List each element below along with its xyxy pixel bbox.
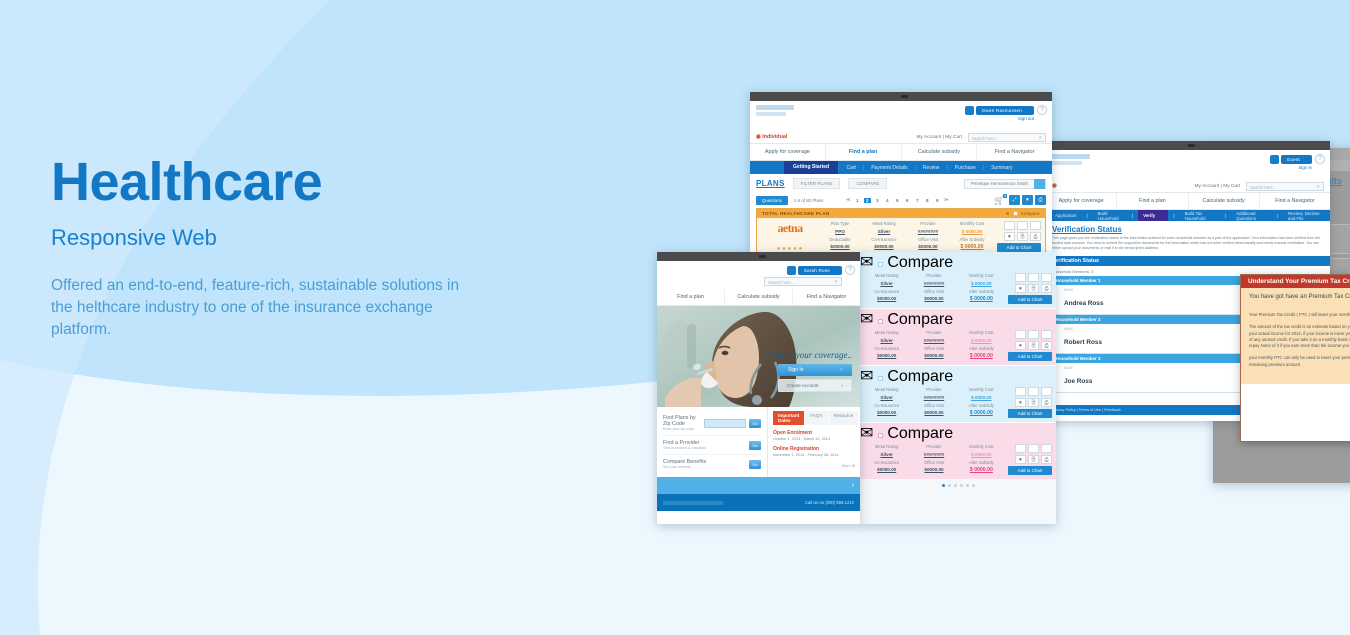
plan-card-actions: ♥ 🗎 ⎙ Add to Chart [1004,444,1052,475]
sign-in-link[interactable]: Sign In [1298,165,1312,170]
browser-chrome-bar [657,252,860,261]
modal-footer [1241,384,1350,400]
plans-toolbar: Questions 1-5 of 80 Plans ≪ 1 2 3 4 5 6 … [750,193,1052,208]
select-box[interactable] [1041,444,1052,453]
cart-count: 0 [1003,194,1007,198]
step-cart[interactable]: Cart [839,165,862,171]
plan-list-card[interactable]: ✉ Compare Metal Rating Provider Monthly … [860,366,1056,423]
chevron-right-icon: › [841,383,843,388]
carousel-dot[interactable] [948,484,951,487]
window-plans[interactable]: Gwen Rasmussen ? Sign out ◉ Individual M… [750,92,1052,252]
attr-label: Office Visit [911,346,956,353]
plan-list-card[interactable]: ✉ Compare Metal Rating Provider Monthly … [860,309,1056,366]
verify-footer-links[interactable]: Privacy Policy | Terms of Use | Feedback [1052,408,1121,412]
select-box[interactable] [1041,330,1052,339]
plan-icon-buttons[interactable]: ♥ 🗎 ⎙ [1015,284,1052,293]
attr-value-monthly-cost: $ 0000.00 [959,452,1004,459]
add-to-chart-button[interactable]: Add to Chart [1008,409,1052,418]
attr-label: Provider [911,273,956,280]
attr-label: Provider [907,221,949,228]
site-logo-tagline [1052,161,1082,165]
pin-icon: ◉ [1052,183,1057,189]
mail-icon[interactable]: ✉ [860,425,873,442]
page-number[interactable]: 7 [914,198,921,203]
plan-card-actions: ♥ 🗎 ⎙ Add to Chart [1004,387,1052,418]
chevron-down-icon[interactable] [1034,179,1045,189]
verify-account-row: ◉ My Account | My Cart Search here... [1046,180,1330,193]
attr-label: Office Visit [907,237,949,244]
page-number[interactable]: 8 [924,198,931,203]
modal-body: You have got have an Premium Tax Credit … [1241,288,1350,384]
attr-value: $0000.00 [911,467,956,475]
favorite-icon[interactable]: ♥ [1015,398,1026,407]
page-number[interactable]: 6 [904,198,911,203]
step-separator: | [1272,213,1283,218]
quick-action-row[interactable]: Find a Provider Search doctors & hospita… [663,436,761,455]
sign-in-label: Sign In [788,367,804,373]
mail-icon[interactable]: ✉ [860,368,873,385]
quick-action-row[interactable]: Compare Benefits See plan benefits Go [663,455,761,473]
nav-item-find-a-plan[interactable]: Find a plan [1117,193,1188,209]
step-separator: | [1127,213,1138,218]
attr-label: Co-Insurance [863,237,905,244]
page-number-active[interactable]: 2 [864,198,871,203]
attr-value: ######## [911,395,956,402]
account-pill[interactable]: Gwen Rasmussen [965,106,1034,115]
document-icon[interactable]: 🗎 [1028,398,1039,407]
plan-selection-boxes[interactable] [1015,444,1052,453]
carousel-dot[interactable] [954,484,957,487]
site-logo[interactable] [1052,154,1090,159]
attr-label: Plan Type [819,221,861,228]
quick-action-hint: Search doctors & hospitals [663,446,746,450]
plans-main-nav[interactable]: Apply for coverage Find a plan Calculate… [750,144,1052,161]
verify-intro-text: This page gives you the verification sta… [1046,236,1330,256]
favorite-icon[interactable]: ♥ [1015,341,1026,350]
attr-label: Monthly Cost [959,387,1004,394]
page-subtitle: Responsive Web [51,225,481,251]
hero-caption: Explore your coverage.. [765,350,852,360]
attr-label: After Subsidy [951,237,993,244]
favorite-icon[interactable]: ♥ [1015,455,1026,464]
user-select-dropdown[interactable]: Penelope Hermansson Smith [964,179,1046,189]
select-box[interactable] [1028,330,1039,339]
step-separator: | [1081,213,1092,218]
favorite-icon[interactable]: ♥ [1015,284,1026,293]
select-box[interactable] [1015,444,1026,453]
quick-action-title: Find Plans by Zip Code [663,415,696,427]
favorite-icon[interactable]: ♥ [1022,195,1033,205]
select-box[interactable] [1015,330,1026,339]
nav-item-calculate-subsidy[interactable]: Calculate subsidy [725,289,793,305]
attr-label: After Subsidy [959,460,1004,467]
help-icon[interactable]: ? [845,265,855,275]
attr-value: ######## [911,281,956,288]
attr-value-monthly-cost: $ 0000.00 [959,395,1004,402]
sub-step-review-declare-file[interactable]: Review, Declare and File [1283,211,1330,221]
plans-account-row: ◉ Individual My Account | My Cart Search… [750,131,1052,144]
quick-action-label: Compare Benefits See plan benefits [663,459,746,469]
checkout-step-bar[interactable]: Getting Started | Cart | Payment Details… [750,161,1052,174]
plan-card-actions: ♥ 🗎 ⎙ Add to Chart [1004,273,1052,304]
zip-code-input[interactable] [704,419,746,428]
verify-site-header: Guest ? Sign In [1046,150,1330,180]
attr-label: Co-Insurance [864,289,909,296]
print-icon[interactable]: ⎙ [1030,232,1041,241]
plan-list-card[interactable]: ✉ Compare Metal Rating Provider Monthly … [860,423,1056,479]
select-box[interactable] [1015,387,1026,396]
nav-item-find-a-navigator[interactable]: Find a Navigator [977,144,1052,160]
select-box[interactable] [1028,444,1039,453]
create-account-button[interactable]: Create Account › [778,379,852,392]
plan-card-body: Metal Rating Provider Monthly Cost Silve… [860,272,1056,308]
verify-section-title: Verification Status [1046,256,1330,266]
step-purchase[interactable]: Purchase [948,165,983,171]
plan-attributes-grid: Metal Rating Provider Monthly Cost Silve… [864,330,1004,361]
attr-value: $0000.00 [864,410,909,418]
attr-value: $0000.00 [911,353,956,361]
attr-label: Metal Rating [864,444,909,451]
nav-item-apply-for-coverage[interactable]: Apply for coverage [1046,193,1117,209]
attr-label: Deductable [819,237,861,244]
sign-in-button[interactable]: Sign In › [778,364,852,376]
mail-icon[interactable]: ✉ [1006,211,1010,216]
mail-icon[interactable]: ✉ [860,254,873,271]
account-name[interactable]: Gwen Rasmussen [976,106,1034,115]
home-main-nav[interactable]: Find a plan Calculate subsidy Find a Nav… [657,289,860,306]
attr-label: Office Visit [911,460,956,467]
avatar-icon [965,106,974,115]
sub-step-verify-status[interactable]: Verify Status [1138,210,1168,221]
pagination[interactable]: ≪ 1 2 3 4 5 6 7 8 9 ≫ [846,197,949,203]
household-member-name: Andrea Ross [1064,300,1103,307]
attr-value: Silver [864,281,909,288]
tab-important-dates[interactable]: Important Dates [773,411,804,425]
date-range: November 1, 2013 - February 28, 2014 [773,453,855,457]
plan-icon-buttons[interactable]: ♥ 🗎 ⎙ [1004,232,1041,241]
attr-label: After Subsidy [959,346,1004,353]
promo-band[interactable]: › [657,477,860,494]
modal-paragraph: The amount of the tax credit is an estim… [1249,324,1350,349]
sub-step-build-tax-household[interactable]: Build Tax Household [1180,211,1220,221]
more-link[interactable]: More ⊕ [773,463,855,468]
nav-item-find-a-plan[interactable]: Find a plan [657,289,725,305]
account-name[interactable]: Sarah Rose [798,266,842,275]
quick-action-hint: Enter your zip code [663,427,704,431]
help-icon[interactable]: ? [1315,154,1325,164]
compare-checkbox[interactable] [878,433,883,438]
individual-badge: ◉ [1052,183,1057,189]
nav-item-find-a-plan[interactable]: Find a plan [826,144,902,160]
go-button[interactable]: Go [749,441,761,450]
modal-paragraph: your monthly PTC can only be used to low… [1249,355,1350,368]
cart-icon[interactable]: 🛒0 [994,196,1004,205]
compare-checkbox[interactable] [1013,211,1018,216]
plan-brand-block: aetna ★★★★★ [761,221,819,252]
pagination-prev[interactable]: ≪ [846,197,851,203]
add-to-chart-button[interactable]: Add to Chart [1008,466,1052,475]
plan-card-actions: ♥ 🗎 ⎙ Add to Chart [1004,330,1052,361]
date-title: Online Registration [773,446,855,452]
attr-label: Metal Rating [863,221,905,228]
attr-value-monthly-cost: $ 0000.00 [951,229,993,236]
attr-value: $0000.00 [907,244,949,252]
print-icon[interactable]: ⎙ [1035,195,1046,205]
pagination-next[interactable]: ≫ [944,197,949,203]
pin-icon: ◉ [756,134,761,140]
attr-value: Silver [864,338,909,345]
individual-label: Individual [762,134,787,140]
select-box[interactable] [1030,221,1041,230]
sub-step-application[interactable]: Application [1050,213,1081,218]
attr-label: Metal Rating [864,273,909,280]
plan-card-body: Metal Rating Provider Monthly Cost Silve… [860,329,1056,365]
step-review[interactable]: Review [916,165,946,171]
site-footer: Call Us on (000) 555-1212 [657,494,860,511]
compare-control[interactable]: ✉ Compare [860,366,1056,386]
individual-badge[interactable]: ◉ Individual [756,134,787,140]
attr-value: PPO [819,229,861,236]
expand-icon[interactable]: ⤢ [1009,195,1020,205]
attr-label: Co-Insurance [864,346,909,353]
quick-action-label: Find a Provider Search doctors & hospita… [663,440,746,450]
date-title: Open Enrolment [773,430,855,436]
sub-step-build-household[interactable]: Build Household [1093,211,1127,221]
plan-attributes-grid: Metal Rating Provider Monthly Cost Silve… [864,444,1004,475]
modal-paragraph: Your Premium Tax Credit ( PTC ) will low… [1249,312,1350,318]
page-number[interactable]: 3 [874,198,881,203]
select-box[interactable] [1017,221,1028,230]
premium-tax-credit-modal[interactable]: Understand Your Premium Tax Credit You h… [1240,274,1350,442]
attr-value: $0000.00 [864,353,909,361]
go-button[interactable]: Go [749,419,761,428]
plan-icon-buttons[interactable]: ♥ 🗎 ⎙ [1015,341,1052,350]
compare-label: Compare [1021,211,1040,216]
print-icon[interactable]: ⎙ [1041,284,1052,293]
plan-card-ribbon: TOTAL HEALTHCARE PLAN ✉ Compare [757,209,1045,218]
result-count: 1-5 of 80 Plans [794,198,824,203]
compare-label: Compare [887,425,953,442]
more-icon[interactable]: ⊕ [852,464,855,468]
step-getting-started[interactable]: Getting Started [784,161,838,174]
hero-banner: Explore your coverage.. Sign In › Create… [657,306,860,407]
attr-value-after-subsidy: $ 0000.00 [959,410,1004,418]
account-pill[interactable]: Sarah Rose [787,266,842,275]
plan-card-body: Metal Rating Provider Monthly Cost Silve… [860,443,1056,479]
attr-value-after-subsidy: $ 0000.00 [951,244,993,252]
plan-card-actions: ♥ 🗎 ⎙ Add to Chart [993,221,1041,252]
page-number[interactable]: 5 [894,198,901,203]
household-member-name: Robert Ross [1064,339,1102,346]
attr-value: ######## [907,229,949,236]
window-homepage[interactable]: Sarah Rose ? Search here... Find a plan … [657,252,860,524]
plan-selection-boxes[interactable] [1015,387,1052,396]
site-logo-tagline [756,112,786,116]
plan-attributes-grid: Metal Rating Provider Monthly Cost Silve… [864,387,1004,418]
compare-checkbox[interactable] [878,319,883,324]
document-icon[interactable]: 🗎 [1028,284,1039,293]
modal-lead-text: You have got have an Premium Tax Credit [1249,294,1350,312]
help-icon[interactable]: ? [1037,105,1047,115]
select-box[interactable] [1015,273,1026,282]
compare-checkbox[interactable] [878,262,883,267]
compare-label: Compare [887,254,953,271]
window-plan-list[interactable]: ✉ Compare Metal Rating Provider Monthly … [860,252,1056,524]
carousel-dot[interactable] [960,484,963,487]
plan-selection-boxes[interactable] [1015,330,1052,339]
info-tabs[interactable]: Important Dates FAQ's Resource [773,411,855,425]
select-box[interactable] [1028,387,1039,396]
step-payment-details[interactable]: Payment Details [864,165,914,171]
account-links[interactable]: My Account | My Cart [1195,184,1241,189]
account-links[interactable]: My Account | My Cart [917,135,963,140]
browser-chrome-bar [750,92,1052,101]
featured-plan-card[interactable]: TOTAL HEALTHCARE PLAN ✉ Compare aetna ★★… [756,208,1046,252]
select-box[interactable] [1041,273,1052,282]
attr-value: Silver [864,452,909,459]
footer-phone: Call Us on (000) 555-1212 [805,500,854,505]
nav-item-calculate-subsidy[interactable]: Calculate subsidy [902,144,978,160]
attr-label: Monthly Cost [951,221,993,228]
verify-main-nav[interactable]: Apply for coverage Find a plan Calculate… [1046,193,1330,210]
attr-label: Metal Rating [864,387,909,394]
compare-control[interactable]: ✉ Compare [860,423,1056,443]
attr-label: After Subsidy [959,289,1004,296]
attr-label: Provider [911,330,956,337]
nav-item-find-a-navigator[interactable]: Find a Navigator [793,289,860,305]
print-icon[interactable]: ⎙ [1041,398,1052,407]
attr-value: Silver [864,395,909,402]
print-icon[interactable]: ⎙ [1041,341,1052,350]
attr-value: $0000.00 [863,244,905,252]
plan-attributes-grid: Metal Rating Provider Monthly Cost Silve… [864,273,1004,304]
nav-item-calculate-subsidy[interactable]: Calculate subsidy [1189,193,1260,209]
compare-button[interactable]: COMPARE [848,178,887,189]
carousel-dot[interactable] [966,484,969,487]
attr-label: Metal Rating [864,330,909,337]
carousel-dot[interactable] [972,484,975,487]
mail-icon[interactable]: ✉ [860,311,873,328]
verify-page-title: Verification Status [1046,221,1330,236]
avatar-icon [1270,155,1279,164]
sign-out-link[interactable]: Sign out [1018,116,1034,121]
attr-label: Provider [911,387,956,394]
account-pill[interactable]: Guest [1270,155,1312,164]
plan-icon-buttons[interactable]: ♥ 🗎 ⎙ [1015,455,1052,464]
attr-value: $0000.00 [819,244,861,252]
questions-button[interactable]: Questions [756,196,788,205]
modal-header: Understand Your Premium Tax Credit [1241,275,1350,288]
plan-selection-boxes[interactable] [1015,273,1052,282]
document-icon[interactable]: 🗎 [1017,232,1028,241]
add-to-chart-button[interactable]: Add to Chart [1008,352,1052,361]
attr-value-after-subsidy: $ 0000.00 [959,467,1004,475]
plan-attributes-grid: Plan Type Metal Rating Provider Monthly … [819,221,993,252]
sub-step-additional-questions[interactable]: Additional Questions [1231,211,1272,221]
compare-control[interactable]: ✉ Compare [860,309,1056,329]
search-input[interactable]: Search here... [968,133,1046,142]
account-name[interactable]: Guest [1281,155,1312,164]
avatar-icon [787,266,796,275]
date-range: October 1, 2013 - March 31, 2014 [773,437,855,441]
tab-faqs[interactable]: FAQ's [805,411,827,425]
search-input[interactable]: Search here... [1246,182,1324,191]
select-box[interactable] [1041,387,1052,396]
plan-list-card[interactable]: ✉ Compare Metal Rating Provider Monthly … [860,252,1056,309]
add-to-chart-button[interactable]: Add to Chart [997,243,1041,252]
document-icon[interactable]: 🗎 [1028,341,1039,350]
go-button[interactable]: Go [749,460,761,469]
attr-value: $0000.00 [864,467,909,475]
more-label: More [842,464,851,468]
filter-plans-button[interactable]: FILTER PLANS [793,178,841,189]
quick-actions-panel: Find Plans by Zip Code Enter your zip co… [657,407,768,477]
attr-label: After Subsidy [959,403,1004,410]
plan-card-body: Metal Rating Provider Monthly Cost Silve… [860,386,1056,422]
chevron-right-icon: › [852,482,854,489]
footer-links-placeholder[interactable] [663,501,723,505]
compare-checkbox[interactable] [878,376,883,381]
attr-value: $0000.00 [864,296,909,304]
browser-chrome-bar [1046,141,1330,150]
attr-label: Provider [911,444,956,451]
aetna-logo: aetna [778,221,803,236]
add-to-chart-button[interactable]: Add to Chart [1008,295,1052,304]
nav-item-find-a-navigator[interactable]: Find a Navigator [1260,193,1330,209]
site-logo[interactable] [756,105,794,110]
select-box[interactable] [1028,273,1039,282]
search-input[interactable]: Search here... [764,277,842,286]
quick-action-hint: See plan benefits [663,465,746,469]
attr-value: $0000.00 [911,296,956,304]
compare-label: Compare [887,368,953,385]
carousel-dots[interactable] [860,479,1056,492]
page-number[interactable]: 1 [854,198,861,203]
step-separator: | [1220,213,1231,218]
attr-label: Co-Insurance [864,460,909,467]
plan-card-body: aetna ★★★★★ Plan Type Metal Rating Provi… [757,218,1045,252]
plan-icon-buttons[interactable]: ♥ 🗎 ⎙ [1015,398,1052,407]
verify-sub-steps[interactable]: Application | Build Household | Verify S… [1046,210,1330,221]
plan-selection-boxes[interactable] [1004,221,1041,230]
info-panel: Important Dates FAQ's Resource Open Enro… [768,407,860,477]
compare-label: Compare [887,311,953,328]
tab-resource[interactable]: Resource [829,411,859,425]
print-icon[interactable]: ⎙ [1041,455,1052,464]
favorite-icon[interactable]: ♥ [1004,232,1015,241]
create-account-label: Create Account [787,383,818,388]
page-number[interactable]: 9 [934,198,941,203]
hero-overlay: Explore your coverage.. Sign In › Create… [765,350,852,392]
document-icon[interactable]: 🗎 [1028,455,1039,464]
step-summary[interactable]: Summary [984,165,1019,171]
carousel-dot-active[interactable] [942,484,945,487]
quick-action-row[interactable]: Find Plans by Zip Code Enter your zip co… [663,411,761,436]
household-member-name: Joe Ross [1064,378,1092,385]
compare-control[interactable]: ✉ Compare [1006,211,1040,216]
attr-value-after-subsidy: $ 0000.00 [959,353,1004,361]
attr-value-monthly-cost: $ 0000.00 [959,281,1004,288]
attr-label: Office Visit [911,403,956,410]
nav-item-apply-for-coverage[interactable]: Apply for coverage [750,144,826,160]
select-box[interactable] [1004,221,1015,230]
plans-site-header: Gwen Rasmussen ? Sign out [750,101,1052,131]
compare-control[interactable]: ✉ Compare [860,252,1056,272]
user-select-value: Penelope Hermansson Smith [965,181,1034,186]
page-number[interactable]: 4 [884,198,891,203]
hero-copy-block: Healthcare Responsive Web Offered an end… [51,155,481,341]
attr-label: Office Visit [911,289,956,296]
